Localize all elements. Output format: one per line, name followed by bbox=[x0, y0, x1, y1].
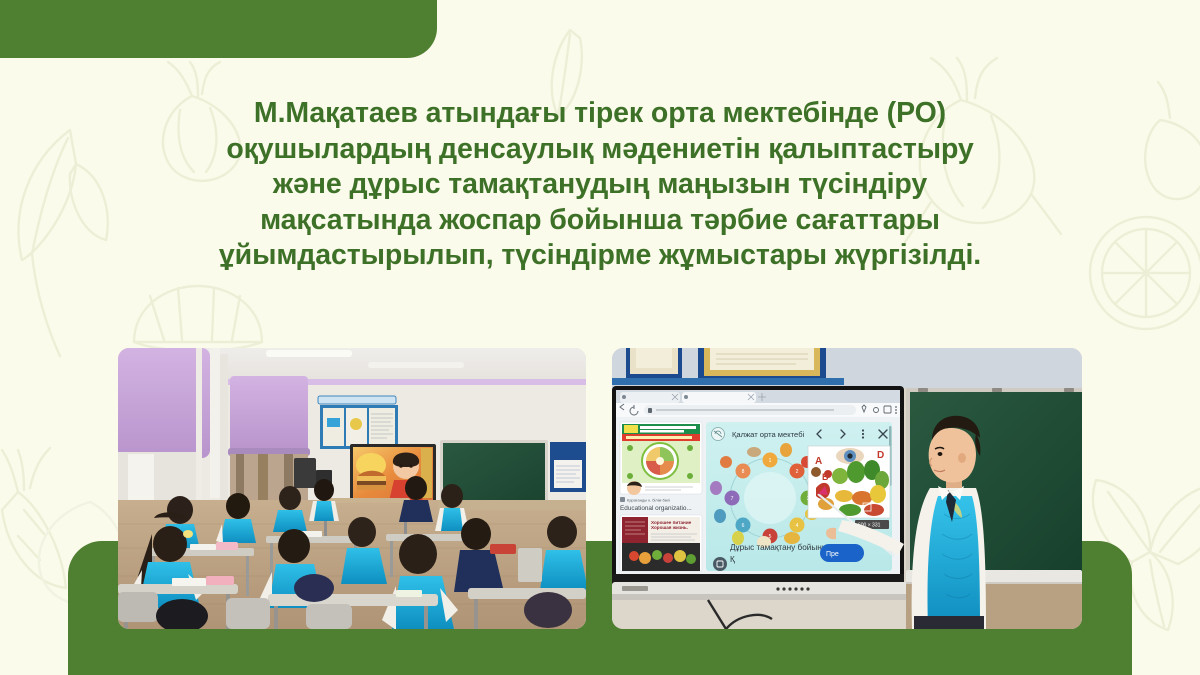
svg-text:Қ: Қ bbox=[730, 555, 735, 564]
vitamin-diagram: A D B C bbox=[808, 446, 890, 529]
svg-text:Қалжат орта мектебі: Қалжат орта мектебі bbox=[732, 430, 805, 439]
svg-text:Educational organizatio...: Educational organizatio... bbox=[620, 505, 692, 512]
headline-line: М.Мақатаев атындағы тірек орта мектебінд… bbox=[130, 96, 1070, 132]
svg-text:7: 7 bbox=[731, 496, 734, 502]
top-left-green-banner bbox=[0, 0, 437, 58]
svg-text:6: 6 bbox=[742, 523, 745, 529]
leaf-outline-icon bbox=[19, 130, 108, 356]
smartboard-presentation-photo: Қарағанды к. білім бөлі Educational orga… bbox=[612, 348, 1082, 629]
svg-text:1: 1 bbox=[769, 458, 772, 464]
presentation-slide: М.Мақатаев атындағы тірек орта мектебінд… bbox=[0, 0, 1200, 675]
headline-line: мақсатында жоспар бойынша тәрбие сағатта… bbox=[130, 203, 1070, 239]
headline-line: ұйымдастырылып, түсіндірме жұмыстары жүр… bbox=[130, 238, 1070, 274]
headline-line: оқушылардың денсаулық мәдениетін қалыпта… bbox=[130, 132, 1070, 168]
svg-text:A: A bbox=[815, 456, 822, 467]
svg-text:4: 4 bbox=[796, 523, 799, 529]
svg-text:Пре: Пре bbox=[826, 551, 839, 558]
svg-text:Қарағанды к. білім бөлі: Қарағанды к. білім бөлі bbox=[627, 498, 670, 503]
slide-headline: М.Мақатаев атындағы тірек орта мектебінд… bbox=[130, 96, 1070, 274]
citrus-slice-outline-icon bbox=[1090, 217, 1200, 329]
svg-text:8: 8 bbox=[742, 469, 745, 475]
headline-line: және дұрыс тамақтанудың маңызын түсіндір… bbox=[130, 167, 1070, 203]
carrot-outline-icon bbox=[2, 448, 66, 588]
svg-text:2: 2 bbox=[796, 469, 799, 475]
classroom-lesson-photo bbox=[118, 348, 586, 629]
svg-text:Хорошая жизнь.: Хорошая жизнь. bbox=[651, 525, 688, 530]
pepper-outline-icon bbox=[1145, 82, 1200, 199]
svg-text:D: D bbox=[877, 450, 884, 461]
